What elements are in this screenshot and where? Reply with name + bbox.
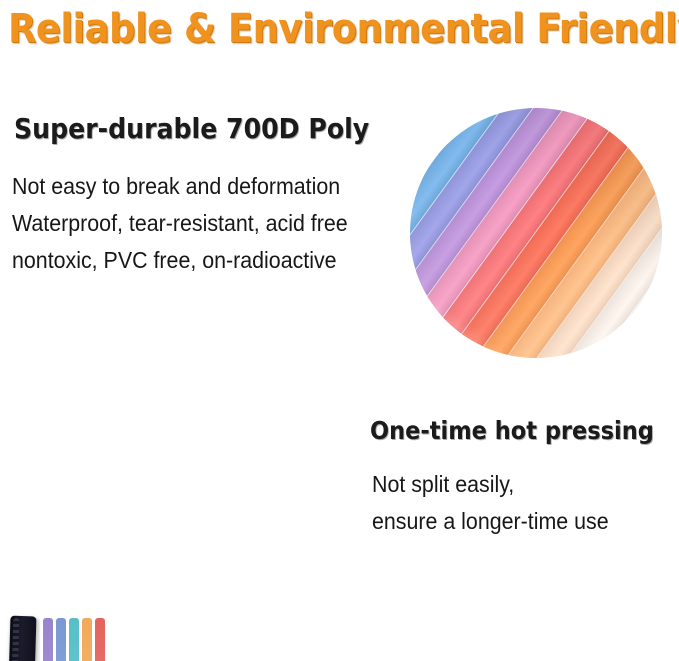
- durable-line-3: nontoxic, PVC free, on-radioactive: [12, 242, 348, 279]
- left-color-strip: [43, 618, 53, 661]
- pressing-line-1: Not split easily,: [372, 466, 609, 503]
- pressing-line-2: ensure a longer-time use: [372, 503, 609, 540]
- left-color-strip: [82, 618, 92, 661]
- banner-title: Reliable & Environmental Friendly: [8, 6, 618, 52]
- left-color-strips: [30, 618, 110, 661]
- durable-line-2: Waterproof, tear-resistant, acid free: [12, 205, 348, 242]
- copy-super-durable: Not easy to break and deformation Waterp…: [12, 168, 348, 279]
- left-color-strip: [56, 618, 66, 661]
- photo-fade-mask: [0, 300, 390, 661]
- heading-one-time-hot-pressing: One-time hot pressing: [370, 416, 654, 445]
- fan-product-photo: [0, 300, 390, 661]
- copy-hot-pressing: Not split easily, ensure a longer-time u…: [372, 466, 609, 540]
- title-banner: Reliable & Environmental Friendly: [0, 4, 679, 60]
- heading-super-durable: Super-durable 700D Poly: [14, 112, 369, 145]
- product-marketing-image: Reliable & Environmental Friendly Super-…: [0, 0, 679, 661]
- circular-inset-photo: [410, 108, 662, 358]
- durable-line-1: Not easy to break and deformation: [12, 168, 348, 205]
- left-color-strip: [95, 618, 105, 661]
- inset-color-bands: [410, 108, 662, 358]
- left-color-strip: [69, 618, 79, 661]
